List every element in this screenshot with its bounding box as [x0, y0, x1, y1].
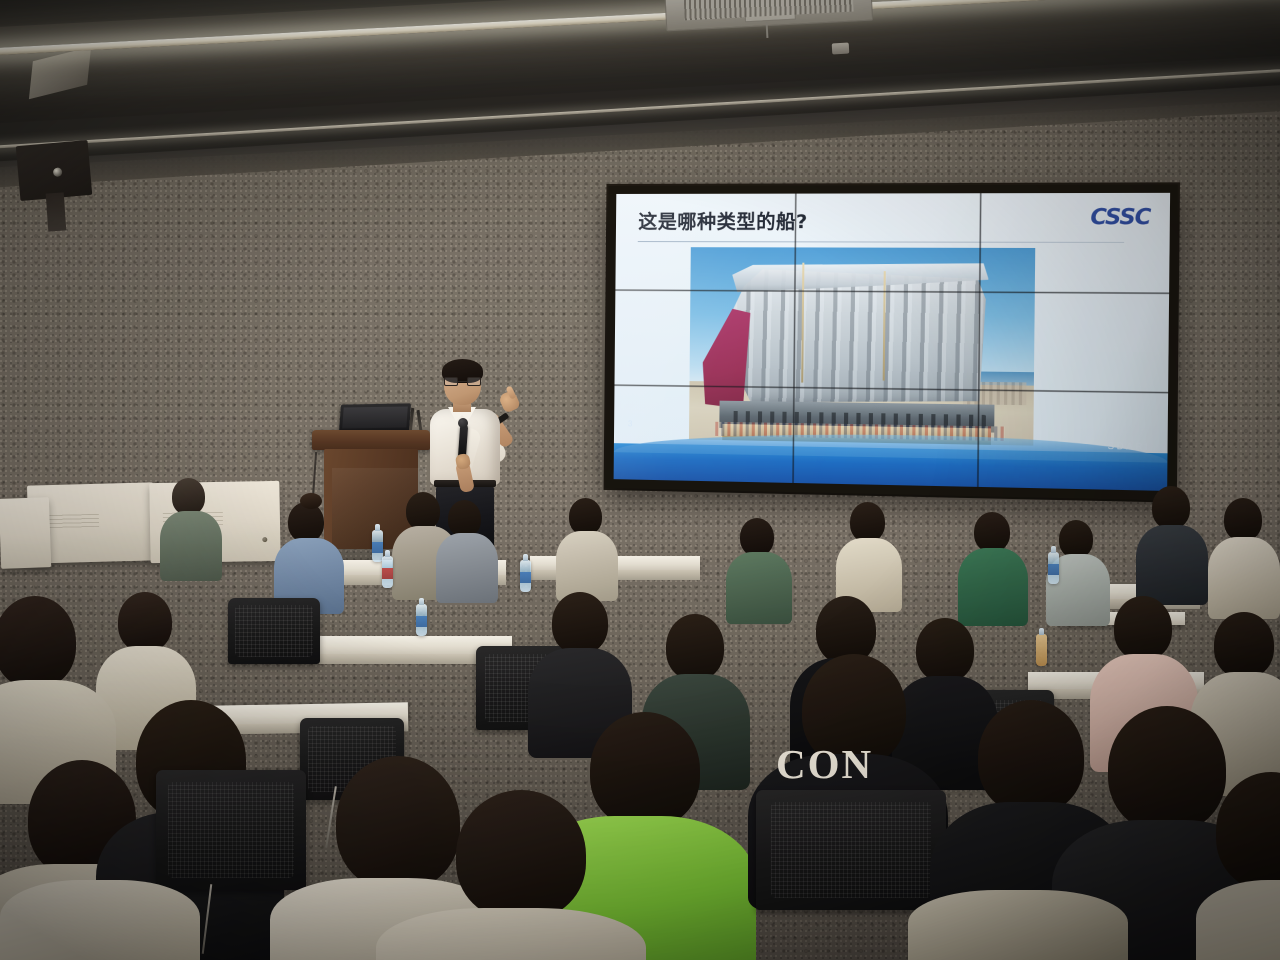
- water-bottle-icon: [416, 604, 427, 636]
- audience-member: [436, 500, 498, 600]
- lecture-hall-photo: 这是哪种类型的船? CSSC: [0, 0, 1280, 960]
- head: [1114, 596, 1172, 660]
- audience-member: [160, 478, 222, 578]
- audience-member: [1136, 486, 1208, 604]
- torso: [1208, 537, 1280, 619]
- torso: [1136, 525, 1208, 605]
- torso: [556, 531, 618, 601]
- audience-member: [0, 880, 200, 960]
- shirt-text: CON: [776, 740, 873, 788]
- glasses-icon: [444, 377, 481, 386]
- microphone-head-icon: [458, 418, 468, 428]
- torso: [436, 533, 498, 603]
- head: [974, 512, 1010, 552]
- camera-icon: [16, 140, 93, 201]
- bottle-label: [382, 568, 393, 579]
- head: [666, 614, 724, 680]
- audience-member: [1196, 772, 1280, 960]
- ship-photo: [689, 247, 1035, 445]
- chair: [228, 598, 320, 664]
- presentation-slide: 这是哪种类型的船? CSSC: [614, 193, 1171, 491]
- laptop-icon[interactable]: [339, 403, 411, 432]
- head: [1214, 612, 1274, 678]
- chair-mesh: [771, 802, 931, 898]
- podium-top: [312, 430, 430, 450]
- audience-member: [274, 502, 344, 612]
- head: [456, 790, 586, 920]
- slide-title-rule: [638, 241, 1124, 243]
- torso: [376, 908, 646, 960]
- torso: [0, 880, 200, 960]
- camera-lens-icon: [52, 168, 62, 178]
- laptop-screen: [342, 406, 408, 428]
- torso: [160, 511, 222, 581]
- head: [406, 492, 440, 530]
- chair-mesh: [235, 605, 312, 658]
- head: [172, 478, 205, 515]
- sdari-logo: SDARI: [1108, 441, 1151, 452]
- audience-member: [556, 498, 618, 598]
- slide-footer-band: [614, 444, 1168, 491]
- bottle-label: [416, 616, 427, 627]
- audience-member: [1208, 498, 1280, 618]
- head: [1216, 772, 1280, 890]
- audience-member: [726, 518, 792, 622]
- audience-member: [908, 890, 1128, 960]
- water-bottle-icon: [1048, 552, 1059, 584]
- glasses-bridge: [458, 381, 467, 382]
- bottle-label: [520, 572, 531, 583]
- head: [552, 592, 608, 654]
- ceiling-sensor-icon: [832, 43, 850, 55]
- bottle-label: [1048, 564, 1059, 575]
- hair-bun: [300, 493, 322, 509]
- head: [1224, 498, 1262, 541]
- head: [1152, 486, 1190, 529]
- head: [740, 518, 774, 556]
- video-wall-screen[interactable]: 这是哪种类型的船? CSSC: [614, 193, 1171, 491]
- slide-page-number: 3: [628, 419, 633, 428]
- torso: [958, 548, 1028, 626]
- cssc-logo: CSSC: [1090, 205, 1150, 230]
- head: [1059, 520, 1093, 558]
- audience-member: [958, 512, 1028, 624]
- water-bottle-icon: [1036, 634, 1047, 666]
- water-bottle-icon: [520, 560, 531, 592]
- head: [850, 502, 885, 542]
- torso: [1196, 880, 1280, 960]
- head: [118, 592, 172, 652]
- slide-title: 这是哪种类型的船?: [638, 207, 808, 234]
- glasses-left-lens: [444, 377, 458, 386]
- torso: [908, 890, 1128, 960]
- head: [0, 596, 76, 688]
- video-wall-bezel: 这是哪种类型的船? CSSC: [606, 184, 1178, 500]
- camera-mount-arm: [46, 192, 67, 231]
- video-wall[interactable]: 这是哪种类型的船? CSSC: [606, 184, 1178, 500]
- audience-member: [836, 502, 902, 610]
- desk-knob: [262, 537, 267, 542]
- audience-member: [376, 790, 646, 960]
- glasses-right-lens: [467, 377, 481, 386]
- water-bottle-icon: [382, 556, 393, 588]
- head: [448, 500, 481, 537]
- head: [569, 498, 602, 535]
- desk-panel: [0, 497, 51, 569]
- bottle-label: [372, 542, 383, 553]
